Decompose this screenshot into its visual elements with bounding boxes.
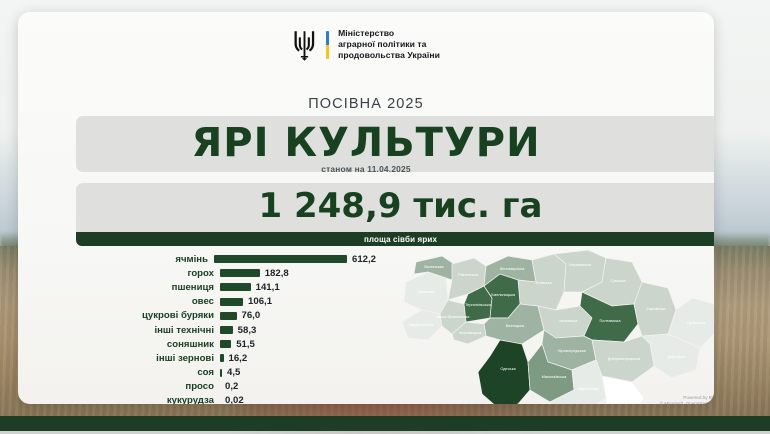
chart-bar-group: 612,2 [214,254,376,265]
chart-bar [220,312,237,320]
map-region[interactable] [602,376,644,404]
map-svg: ВолинськаРівненськаЛьвівськаЖитомирськаК… [396,248,714,404]
map-region-label: Харківська [646,306,666,311]
chart-value-label: 4,5 [222,367,240,378]
chart-category-label: горох [76,268,220,279]
chart-bar [220,269,260,277]
map-region-label: Кіровоградська [558,348,586,353]
map-region-label: Чернівецька [459,330,482,335]
map-region-label: Тернопільська [465,302,492,307]
logo-flag-divider [326,31,329,59]
map-region-label: Рівненська [458,272,479,277]
ministry-name: Міністерство аграрної політики та продов… [338,28,440,61]
ministry-line-2: аграрної політики та [338,39,440,50]
map-region-label: Запорізька [616,392,636,397]
chart-category-label: соняшник [76,339,220,350]
chart-bar-group: 4,5 [220,367,240,378]
map-region-label: Волинська [424,264,444,269]
chart-category-label: цукрові буряки [76,310,220,321]
chart-category-label: соя [76,367,220,378]
kpi-value: 1 248,9 тис. га [76,184,714,228]
map-region-label: Черкаська [559,318,579,323]
page-title: ЯРІ КУЛЬТУРИ [18,120,714,166]
ministry-line-1: Міністерство [338,28,440,39]
chart-bar [214,255,347,263]
map-region-label: Сумська [610,278,626,283]
chart-row: цукрові буряки76,0 [76,309,376,323]
chart-value-label: 0,2 [220,381,238,392]
chart-value-label: 612,2 [347,254,376,265]
chart-row: горох182,8 [76,266,376,280]
chart-row: кукурудза0,02 [76,394,376,404]
chart-category-label: просо [76,381,220,392]
map-region-label: Луганська [687,320,706,325]
map-region-label: Закарпатська [409,322,434,327]
kpi-caption: площа сівби ярих [364,235,437,244]
infographic-card: Міністерство аграрної політики та продов… [18,12,714,404]
map-region-label: Одеська [500,366,516,371]
ukraine-trident-icon [292,29,317,61]
map-region-label: Полтавська [600,318,622,323]
kicker-text: ПОСІВНА 2025 [18,96,714,112]
chart-bar-group: 106,1 [220,296,272,307]
chart-value-label: 0,02 [220,395,244,404]
chart-value-label: 141,1 [251,282,280,293]
chart-category-label: інші технічні [76,325,220,336]
chart-bar [220,340,231,348]
map-region-label: Хмельницька [491,292,516,297]
chart-value-label: 58,3 [233,325,257,336]
chart-value-label: 51,5 [231,339,255,350]
kpi-caption-band: площа сівби ярих [76,232,714,246]
crop-area-bar-chart: ячмінь612,2горох182,8пшениця141,1овес106… [76,252,376,404]
chart-category-label: ячмінь [76,254,214,265]
chart-category-label: овес [76,296,220,307]
chart-value-label: 76,0 [237,310,261,321]
map-region-label: Житомирська [500,266,525,271]
chart-bar-group: 0,2 [220,381,238,392]
map-region[interactable] [478,340,530,404]
chart-value-label: 182,8 [260,268,289,279]
chart-bar [220,326,233,334]
map-attribution: Powered by Bing © Microsoft, OpenStreetM… [660,395,714,404]
map-region-label: Вінницька [506,323,525,328]
map-attribution-line-2: © Microsoft, OpenStreetMap [660,401,714,404]
chart-value-label: 106,1 [243,296,272,307]
chart-bar-group: 141,1 [220,282,280,293]
chart-row: соя4,5 [76,366,376,380]
chart-bar-group: 58,3 [220,325,256,336]
map-region-label: Львівська [417,289,435,294]
map-region-label: Миколаївська [542,374,568,379]
chart-bar-group: 51,5 [220,339,255,350]
chart-row: пшениця141,1 [76,280,376,294]
chart-row: інші зернові16,2 [76,351,376,365]
chart-bar [220,298,243,306]
map-region-label: Івано-Франківська [437,314,471,319]
map-region-label: Київська [536,280,552,285]
chart-row: соняшник51,5 [76,337,376,351]
chart-bar-group: 76,0 [220,310,260,321]
chart-bar-group: 16,2 [220,353,247,364]
chart-row: інші технічні58,3 [76,323,376,337]
ukraine-choropleth-map[interactable]: ВолинськаРівненськаЛьвівськаЖитомирськаК… [396,248,714,404]
map-region-label: Дніпропетровська [608,356,641,361]
as-of-date: станом на 11.04.2025 [18,164,714,174]
map-region-label: Чернігівська [569,262,592,267]
chart-value-label: 16,2 [224,353,248,364]
map-region-label: Херсонська [577,386,599,391]
ministry-logo: Міністерство аграрної політики та продов… [18,28,714,61]
chart-row: овес106,1 [76,295,376,309]
map-region-label: Донецька [667,354,685,359]
chart-row: просо0,2 [76,380,376,394]
chart-category-label: інші зернові [76,353,220,364]
chart-bar [220,283,251,291]
background-bottom-green-strip [0,416,770,431]
chart-bar-group: 182,8 [220,268,289,279]
ministry-line-3: продовольства України [338,50,440,61]
chart-category-label: пшениця [76,282,220,293]
chart-row: ячмінь612,2 [76,252,376,266]
chart-category-label: кукурудза [76,395,220,404]
chart-bar-group: 0,02 [220,395,244,404]
